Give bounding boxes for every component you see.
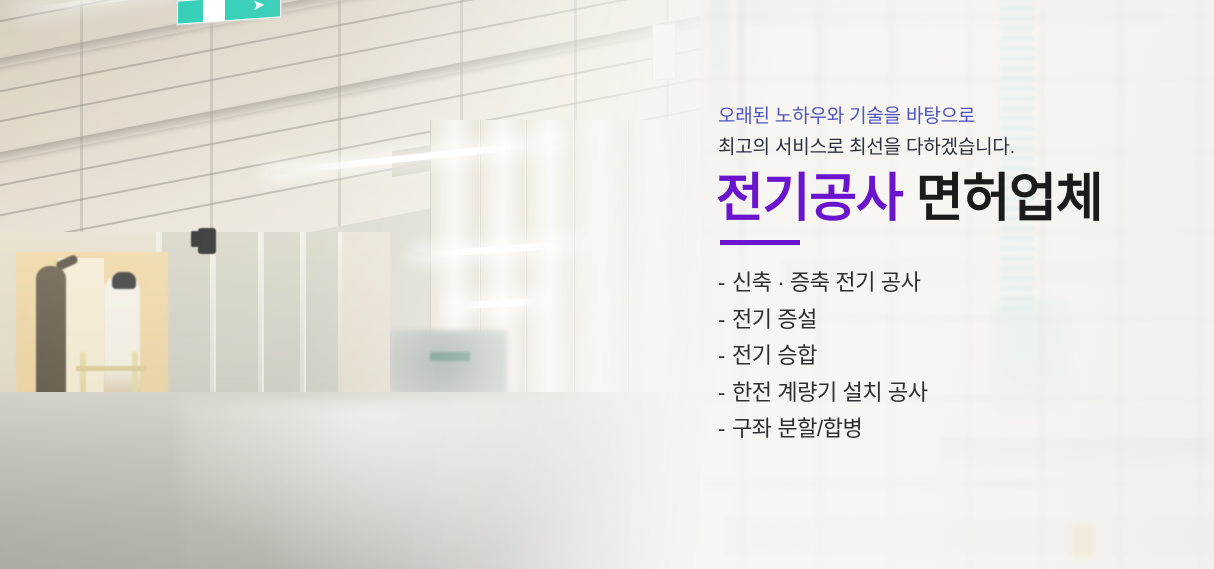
list-item-label: 신축 · 증축 전기 공사 <box>732 270 921 295</box>
corridor-photo: ➤ <box>0 0 700 569</box>
list-item: -한전 계량기 설치 공사 <box>718 375 928 412</box>
banner-content: 오래된 노하우와 기술을 바탕으로 최고의 서비스로 최선을 다하겠습니다. 전… <box>718 0 1188 569</box>
list-item-label: 전기 승합 <box>732 343 817 368</box>
subtitle-line-1: 오래된 노하우와 기술을 바탕으로 <box>718 101 1188 132</box>
list-item: -신축 · 증축 전기 공사 <box>718 265 928 302</box>
subtitle-line-2: 최고의 서비스로 최선을 다하겠습니다. <box>718 132 1188 163</box>
headline-rest: 면허업체 <box>916 170 1103 228</box>
bullet-dash: - <box>718 270 725 295</box>
headline-accent: 전기공사 <box>716 170 903 228</box>
ceiling-junction-box <box>652 23 676 82</box>
bullet-dash: - <box>718 307 725 332</box>
list-item: -전기 증설 <box>718 302 928 339</box>
list-item-label: 한전 계량기 설치 공사 <box>732 380 928 405</box>
distant-sign <box>430 352 470 361</box>
bullet-dash: - <box>718 343 725 368</box>
list-item: -전기 승합 <box>718 338 928 375</box>
bullet-dash: - <box>718 380 725 405</box>
bullet-dash: - <box>718 416 725 441</box>
headline: 전기공사 면허업체 <box>716 168 1102 230</box>
accent-divider <box>720 240 800 245</box>
list-item: -구좌 분할/합병 <box>718 411 928 448</box>
worker-head <box>112 272 136 289</box>
wall-bracket <box>198 228 216 254</box>
list-item-label: 구좌 분할/합병 <box>732 416 862 441</box>
subtitle: 오래된 노하우와 기술을 바탕으로 최고의 서비스로 최선을 다하겠습니다. <box>718 101 1188 163</box>
service-list: -신축 · 증축 전기 공사 -전기 증설 -전기 승합 -한전 계량기 설치 … <box>718 265 928 448</box>
promo-banner: ➤ <box>0 0 1214 569</box>
floor-reflection <box>180 400 600 569</box>
list-item-label: 전기 증설 <box>732 307 817 332</box>
